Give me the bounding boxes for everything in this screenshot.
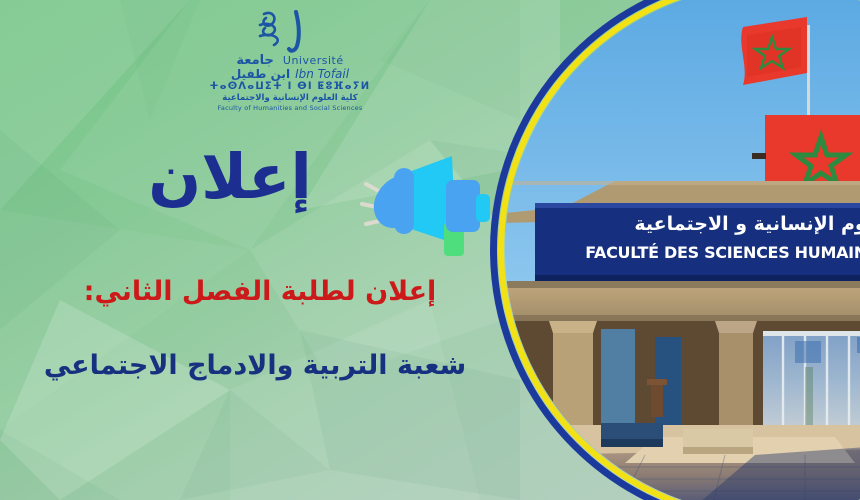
logo-faculty-ar: كلية العلوم الإنسانية والاجتماعية — [200, 93, 380, 103]
building-sign-french: FACULTÉ DES SCIENCES HUMAINES ET SOCIALE — [535, 243, 860, 262]
logo-name-fr: Ibn Tofail — [295, 68, 349, 81]
logo-university-line: جامعة Université — [200, 54, 380, 68]
logo-university-ar: جامعة — [236, 54, 274, 68]
building-sign-arabic: كلية العلوم الإنسانية و الاجتماعية — [539, 213, 860, 235]
left-content-column: جامعة Université ابن طفيل Ibn Tofail ⵜⴰⵙ… — [0, 0, 520, 500]
university-logo: جامعة Université ابن طفيل Ibn Tofail ⵜⴰⵙ… — [200, 8, 380, 112]
calligraphy-swirl-icon — [200, 8, 380, 54]
logo-university-fr: Université — [283, 55, 344, 67]
logo-faculty-fr: Faculty of Humanities and Social Science… — [200, 104, 380, 112]
announcement-poster: جامعة Université ابن طفيل Ibn Tofail ⵜⴰⵙ… — [0, 0, 860, 500]
campus-photo-clip: كلية العلوم الإنسانية و الاجتماعية FACUL… — [505, 0, 860, 500]
announcement-department-navy: شعبة التربية والادماج الاجتماعي — [10, 350, 500, 382]
logo-name-ar: ابن طفيل — [231, 68, 290, 81]
campus-photo-circle: كلية العلوم الإنسانية و الاجتماعية FACUL… — [490, 0, 860, 500]
logo-tifinagh: ⵜⴰⵙⴷⴰⵡⵉⵜ ⵏ ⴱⵏ ⵟⵓⴼⴰⵢⵍ — [200, 81, 380, 92]
campus-photo: كلية العلوم الإنسانية و الاجتماعية FACUL… — [505, 0, 860, 500]
logo-name-line: ابن طفيل Ibn Tofail — [200, 68, 380, 81]
announcement-subtitle-red: إعلان لطلبة الفصل الثاني: — [20, 276, 500, 308]
page-title: إعلان — [110, 146, 350, 208]
